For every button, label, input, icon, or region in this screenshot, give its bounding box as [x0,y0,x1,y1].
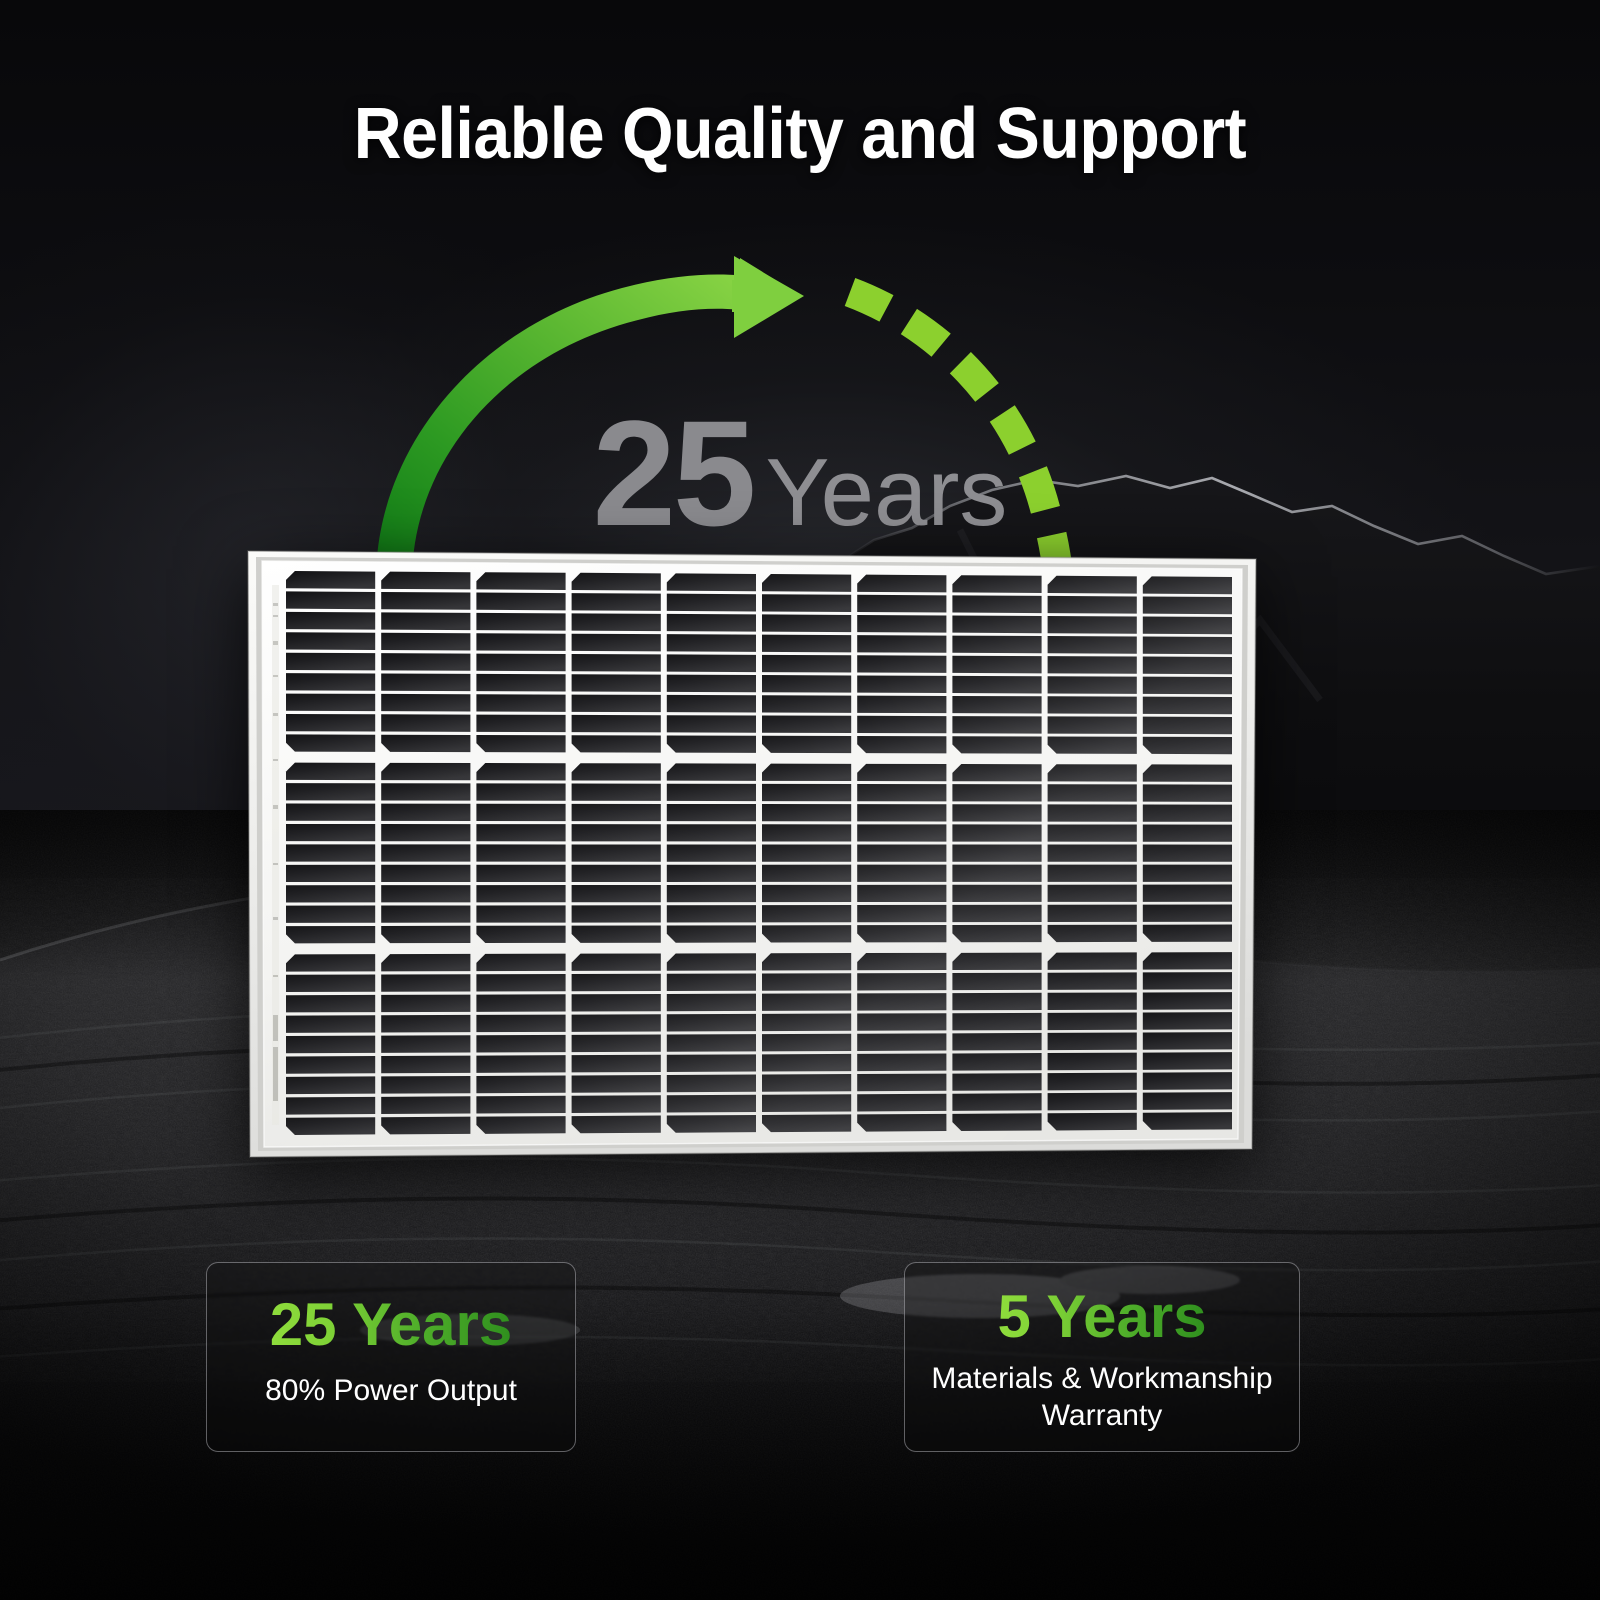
card-headline: 25 Years [270,1295,513,1355]
years-unit: Years [765,439,1007,546]
panel-serial-label [272,585,279,1125]
card-headline: 5 Years [997,1287,1206,1347]
solar-panel-icon [246,545,1258,1160]
card-subtext: Materials & Workmanship Warranty [905,1361,1299,1434]
card-subtext: 80% Power Output [207,1373,575,1410]
power-output-warranty-card: 25 Years 80% Power Output [206,1262,576,1452]
years-label: 25Years [0,398,1600,548]
materials-workmanship-warranty-card: 5 Years Materials & Workmanship Warranty [904,1262,1300,1452]
years-number: 25 [593,389,754,557]
page-title: Reliable Quality and Support [64,98,1536,170]
